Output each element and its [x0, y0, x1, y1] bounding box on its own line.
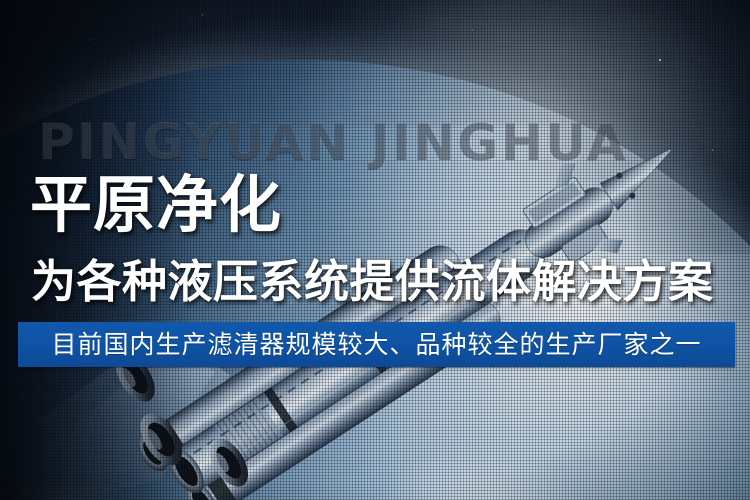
tagline-bar: 目前国内生产滤清器规模较大、品种较全的生产厂家之一	[18, 322, 735, 367]
banner-content: PINGYUAN JINGHUA 平原净化 为各种液压系统提供流体解决方案 目前…	[0, 0, 750, 500]
subtitle: 为各种液压系统提供流体解决方案	[31, 258, 714, 306]
page-title: 平原净化	[30, 172, 282, 238]
tagline-text: 目前国内生产滤清器规模较大、品种较全的生产厂家之一	[51, 332, 701, 357]
pinyin-watermark: PINGYUAN JINGHUA	[38, 117, 628, 167]
promo-banner: PINGYUAN JINGHUA 平原净化 为各种液压系统提供流体解决方案 目前…	[0, 0, 750, 500]
